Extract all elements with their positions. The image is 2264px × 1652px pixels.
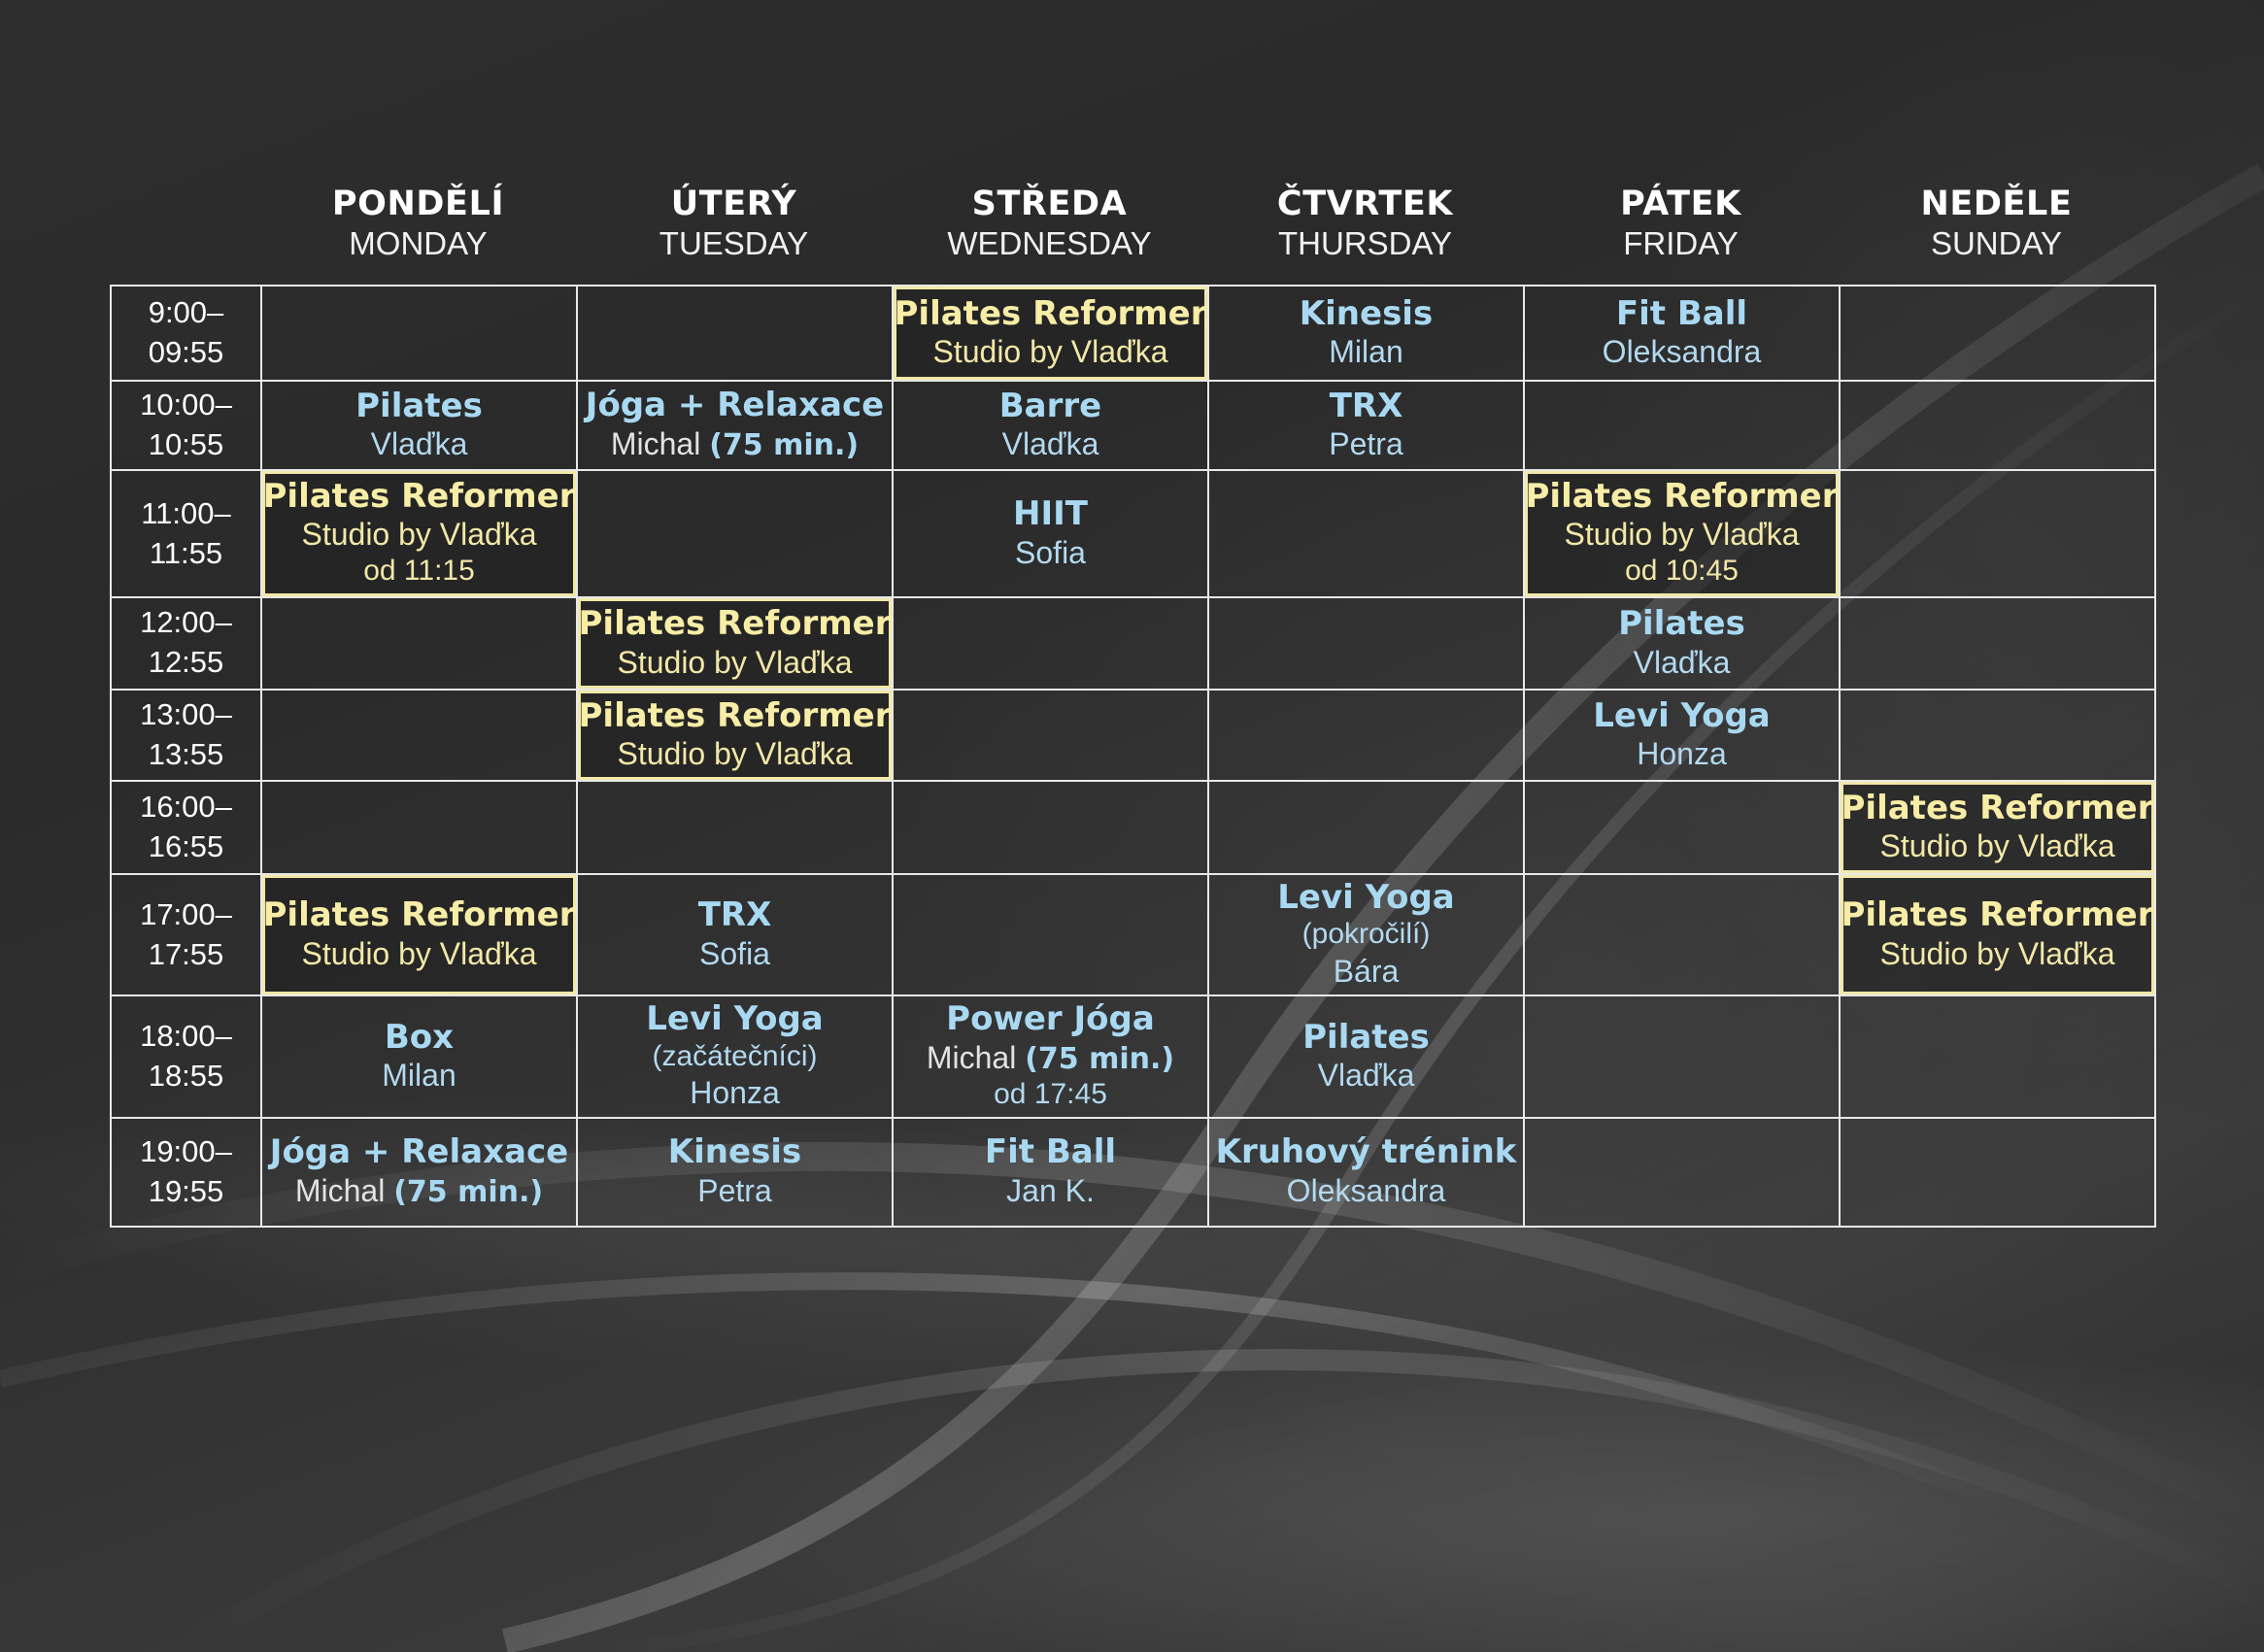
class-entry[interactable]: Levi Yoga(pokročilí)Bára: [1209, 875, 1523, 995]
instructor-name: Studio by Vlaďka: [301, 517, 536, 552]
class-instructor: Michal (75 min.): [611, 425, 859, 464]
schedule-cell-empty-sunday: [1840, 381, 2155, 470]
empty-slot: [262, 287, 576, 380]
time-label-cell: 17:00– 17:55: [111, 874, 261, 995]
schedule-cell-empty-sunday: [1840, 1118, 2155, 1227]
class-entry[interactable]: Fit BallOleksandra: [1525, 287, 1839, 380]
schedule-cell-empty-friday: [1524, 381, 1840, 470]
class-entry[interactable]: TRXSofia: [578, 875, 892, 995]
time-label-cell: 18:00– 18:55: [111, 995, 261, 1118]
empty-slot: [1841, 996, 2154, 1117]
class-title: Fit Ball: [985, 1133, 1116, 1171]
class-instructor: Oleksandra: [1287, 1172, 1446, 1210]
empty-slot: [894, 782, 1207, 873]
empty-slot: [1209, 471, 1523, 596]
time-label-cell: 11:00– 11:55: [111, 470, 261, 597]
empty-slot: [1209, 691, 1523, 780]
class-entry[interactable]: PilatesVlaďka: [1525, 598, 1839, 688]
empty-slot: [578, 287, 892, 380]
schedule-cell-empty-wednesday: [893, 781, 1208, 874]
class-title: HIIT: [1013, 495, 1088, 533]
instructor-name: Vlaďka: [1318, 1058, 1415, 1093]
class-instructor: Honza: [1637, 735, 1727, 773]
instructor-name: Michal: [927, 1040, 1025, 1075]
instructor-name: Honza: [690, 1075, 780, 1110]
day-header-friday: PÁTEK FRIDAY: [1523, 170, 1839, 285]
instructor-name: Studio by Vlaďka: [617, 736, 852, 771]
empty-slot: [1841, 691, 2154, 780]
class-instructor: Michal (75 min.): [295, 1172, 543, 1211]
schedule-cell-empty-tuesday: [577, 470, 893, 597]
day-header-en-monday: MONDAY: [260, 223, 576, 263]
instructor-name: Sofia: [699, 936, 770, 971]
class-instructor: Bára: [1334, 953, 1400, 991]
class-entry[interactable]: Pilates ReformerStudio by Vlaďka: [578, 598, 892, 688]
schedule-row: 9:00– 09:55Pilates ReformerStudio by Vla…: [111, 286, 2155, 381]
schedule-cell-wednesday[interactable]: Power JógaMichal (75 min.)od 17:45: [893, 995, 1208, 1118]
schedule-cell-empty-sunday: [1840, 470, 2155, 597]
class-instructor: Vlaďka: [371, 425, 468, 463]
instructor-name: Studio by Vlaďka: [617, 645, 852, 680]
empty-slot: [894, 691, 1207, 780]
schedule-cell-tuesday[interactable]: TRXSofia: [577, 874, 893, 995]
empty-slot: [1209, 782, 1523, 873]
schedule-cell-empty-monday: [261, 597, 577, 689]
schedule-cell-monday[interactable]: PilatesVlaďka: [261, 381, 577, 470]
day-header-thursday: ČTVRTEK THURSDAY: [1207, 170, 1523, 285]
empty-slot: [578, 782, 892, 873]
schedule-cell-empty-monday: [261, 690, 577, 781]
class-start-time-note: od 17:45: [994, 1077, 1107, 1113]
instructor-name: Oleksandra: [1287, 1173, 1446, 1208]
day-header-tuesday: ÚTERÝ TUESDAY: [576, 170, 892, 285]
class-instructor: Studio by Vlaďka: [617, 644, 852, 682]
class-instructor: Petra: [1329, 425, 1402, 463]
schedule-cell-tuesday[interactable]: Jóga + RelaxaceMichal (75 min.): [577, 381, 893, 470]
class-entry[interactable]: Jóga + RelaxaceMichal (75 min.): [578, 382, 892, 469]
instructor-name: Bára: [1334, 954, 1400, 989]
class-entry[interactable]: KinesisMilan: [1209, 287, 1523, 380]
day-header-en-thursday: THURSDAY: [1207, 223, 1523, 263]
instructor-name: Honza: [1637, 736, 1727, 771]
class-title: Pilates Reformer: [579, 697, 892, 735]
class-instructor: Milan: [1329, 333, 1402, 371]
class-title: Pilates: [355, 388, 483, 425]
class-entry[interactable]: Pilates ReformerStudio by Vlaďka: [1841, 782, 2154, 873]
class-duration-note: (75 min.): [1025, 1042, 1174, 1076]
empty-slot: [262, 598, 576, 688]
schedule-cell-friday[interactable]: PilatesVlaďka: [1524, 597, 1840, 689]
empty-slot: [1209, 598, 1523, 688]
class-entry[interactable]: BoxMilan: [262, 996, 576, 1117]
class-instructor: Studio by Vlaďka: [1564, 516, 1799, 554]
schedule-cell-empty-thursday: [1208, 690, 1524, 781]
day-header-en-wednesday: WEDNESDAY: [892, 223, 1207, 263]
class-title: Pilates Reformer: [1526, 478, 1839, 516]
class-entry[interactable]: TRXPetra: [1209, 382, 1523, 469]
class-title: Pilates: [1618, 605, 1745, 643]
instructor-name: Michal: [611, 426, 709, 461]
schedule-cell-wednesday[interactable]: BarreVlaďka: [893, 381, 1208, 470]
class-instructor: Studio by Vlaďka: [301, 516, 536, 554]
day-header-cz-wednesday: STŘEDA: [892, 185, 1207, 223]
instructor-name: Studio by Vlaďka: [1879, 828, 2114, 863]
class-title: TRX: [698, 896, 772, 934]
class-instructor: Studio by Vlaďka: [301, 935, 536, 973]
class-title: Levi Yoga: [1277, 879, 1455, 917]
schedule-cell-empty-friday: [1524, 874, 1840, 995]
schedule-cell-empty-thursday: [1208, 781, 1524, 874]
schedule-cell-friday[interactable]: Levi YogaHonza: [1524, 690, 1840, 781]
schedule-cell-friday[interactable]: Fit BallOleksandra: [1524, 286, 1840, 381]
schedule-cell-empty-wednesday: [893, 597, 1208, 689]
schedule-sheet: PONDĚLÍ MONDAY ÚTERÝ TUESDAY STŘEDA WEDN…: [0, 0, 2264, 1652]
class-entry[interactable]: KinesisPetra: [578, 1119, 892, 1226]
class-title: Pilates Reformer: [1842, 790, 2154, 827]
instructor-name: Studio by Vlaďka: [1879, 936, 2114, 971]
instructor-name: Milan: [382, 1058, 456, 1093]
class-instructor: Vlaďka: [1634, 644, 1731, 682]
schedule-cell-monday[interactable]: Jóga + RelaxaceMichal (75 min.): [261, 1118, 577, 1227]
class-title: Fit Ball: [1616, 295, 1747, 333]
class-start-time-note: od 11:15: [363, 554, 475, 590]
schedule-cell-highlight-monday[interactable]: Pilates ReformerStudio by Vlaďka: [261, 874, 577, 995]
schedule-row: 11:00– 11:55Pilates ReformerStudio by Vl…: [111, 470, 2155, 597]
empty-slot: [1525, 782, 1839, 873]
schedule-cell-empty-friday: [1524, 995, 1840, 1118]
instructor-name: Studio by Vlaďka: [932, 334, 1167, 369]
schedule-cell-empty-monday: [261, 781, 577, 874]
schedule-cell-empty-monday: [261, 286, 577, 381]
schedule-cell-highlight-monday[interactable]: Pilates ReformerStudio by Vlaďkaod 11:15: [261, 470, 577, 597]
schedule-cell-empty-thursday: [1208, 470, 1524, 597]
class-title: Barre: [999, 388, 1101, 425]
class-instructor: Michal (75 min.): [927, 1039, 1174, 1078]
class-entry[interactable]: Jóga + RelaxaceMichal (75 min.): [262, 1119, 576, 1226]
class-entry[interactable]: Pilates ReformerStudio by Vlaďkaod 10:45: [1525, 471, 1839, 596]
class-entry[interactable]: Pilates ReformerStudio by Vlaďka: [1841, 875, 2154, 995]
schedule-cell-empty-sunday: [1840, 286, 2155, 381]
class-title: Levi Yoga: [1593, 697, 1771, 735]
time-label-cell: 12:00– 12:55: [111, 597, 261, 689]
schedule-grid-body: 9:00– 09:55Pilates ReformerStudio by Vla…: [111, 286, 2155, 1227]
instructor-name: Oleksandra: [1603, 334, 1762, 369]
class-instructor: Vlaďka: [1002, 425, 1099, 463]
day-header-monday: PONDĚLÍ MONDAY: [260, 170, 576, 285]
schedule-cell-thursday[interactable]: TRXPetra: [1208, 381, 1524, 470]
class-duration-note: (75 min.): [709, 428, 859, 462]
class-instructor: Studio by Vlaďka: [1879, 935, 2114, 973]
class-instructor: Vlaďka: [1318, 1057, 1415, 1095]
instructor-name: Jan K.: [1006, 1173, 1095, 1208]
schedule-cell-highlight-tuesday[interactable]: Pilates ReformerStudio by Vlaďka: [577, 597, 893, 689]
schedule-row: 13:00– 13:55Pilates ReformerStudio by Vl…: [111, 690, 2155, 781]
empty-slot: [262, 782, 576, 873]
schedule-row: 16:00– 16:55Pilates ReformerStudio by Vl…: [111, 781, 2155, 874]
class-title: Kinesis: [1300, 295, 1433, 333]
empty-slot: [1841, 287, 2154, 380]
empty-slot: [1841, 598, 2154, 688]
class-entry[interactable]: Pilates ReformerStudio by Vlaďka: [262, 875, 576, 995]
empty-slot: [1841, 382, 2154, 469]
time-label-cell: 10:00– 10:55: [111, 381, 261, 470]
empty-slot: [578, 471, 892, 596]
class-title: Kruhový trénink: [1216, 1133, 1517, 1171]
class-title: Pilates Reformer: [1842, 896, 2154, 934]
class-entry[interactable]: Levi Yoga(začátečníci)Honza: [578, 996, 892, 1117]
schedule-cell-empty-thursday: [1208, 597, 1524, 689]
class-title: Box: [385, 1019, 454, 1057]
class-entry[interactable]: BarreVlaďka: [894, 382, 1207, 469]
class-entry[interactable]: PilatesVlaďka: [1209, 996, 1523, 1117]
schedule-cell-tuesday[interactable]: Levi Yoga(začátečníci)Honza: [577, 995, 893, 1118]
schedule-cell-thursday[interactable]: Levi Yoga(pokročilí)Bára: [1208, 874, 1524, 995]
schedule-cell-empty-wednesday: [893, 690, 1208, 781]
time-label-cell: 9:00– 09:55: [111, 286, 261, 381]
schedule-cell-tuesday[interactable]: KinesisPetra: [577, 1118, 893, 1227]
class-instructor: Oleksandra: [1603, 333, 1762, 371]
schedule-row: 10:00– 10:55PilatesVlaďkaJóga + Relaxace…: [111, 381, 2155, 470]
class-title: Pilates: [1302, 1019, 1430, 1057]
class-instructor: Sofia: [699, 935, 770, 973]
instructor-name: Vlaďka: [371, 426, 468, 461]
class-title: Pilates Reformer: [579, 605, 892, 643]
schedule-cell-empty-sunday: [1840, 995, 2155, 1118]
time-label-cell: 16:00– 16:55: [111, 781, 261, 874]
class-level-note: (začátečníci): [652, 1039, 817, 1075]
class-instructor: Jan K.: [1006, 1172, 1095, 1210]
schedule-table: 9:00– 09:55Pilates ReformerStudio by Vla…: [110, 285, 2156, 1228]
class-duration-note: (75 min.): [393, 1175, 543, 1209]
time-label-cell: 13:00– 13:55: [111, 690, 261, 781]
schedule-cell-monday[interactable]: BoxMilan: [261, 995, 577, 1118]
class-title: Jóga + Relaxace: [586, 387, 884, 424]
class-instructor: Sofia: [1015, 534, 1086, 572]
schedule-cell-empty-sunday: [1840, 597, 2155, 689]
class-title: Power Jóga: [946, 1000, 1155, 1038]
class-instructor: Honza: [690, 1074, 780, 1112]
empty-slot: [894, 875, 1207, 995]
class-entry[interactable]: Levi YogaHonza: [1525, 691, 1839, 780]
class-entry[interactable]: Kruhový tréninkOleksandra: [1209, 1119, 1523, 1226]
empty-slot: [262, 691, 576, 780]
header-corner-spacer: [110, 170, 260, 285]
class-instructor: Studio by Vlaďka: [1879, 827, 2114, 865]
schedule-row: 19:00– 19:55Jóga + RelaxaceMichal (75 mi…: [111, 1118, 2155, 1227]
instructor-name: Vlaďka: [1002, 426, 1099, 461]
class-start-time-note: od 10:45: [1625, 554, 1739, 590]
day-header-row: PONDĚLÍ MONDAY ÚTERÝ TUESDAY STŘEDA WEDN…: [110, 170, 2154, 285]
class-entry[interactable]: HIITSofia: [894, 471, 1207, 596]
schedule-cell-highlight-friday[interactable]: Pilates ReformerStudio by Vlaďkaod 10:45: [1524, 470, 1840, 597]
empty-slot: [1841, 1119, 2154, 1226]
day-header-cz-tuesday: ÚTERÝ: [576, 185, 892, 223]
instructor-name: Sofia: [1015, 535, 1086, 570]
class-title: Pilates Reformer: [263, 896, 576, 934]
schedule-cell-wednesday[interactable]: Fit BallJan K.: [893, 1118, 1208, 1227]
schedule-row: 18:00– 18:55BoxMilanLevi Yoga(začátečníc…: [111, 995, 2155, 1118]
schedule-cell-highlight-sunday[interactable]: Pilates ReformerStudio by Vlaďka: [1840, 781, 2155, 874]
instructor-name: Studio by Vlaďka: [301, 936, 536, 971]
day-header-sunday: NEDĚLE SUNDAY: [1839, 170, 2154, 285]
day-header-cz-monday: PONDĚLÍ: [260, 185, 576, 223]
class-title: Pilates Reformer: [263, 478, 576, 516]
time-label-cell: 19:00– 19:55: [111, 1118, 261, 1227]
instructor-name: Milan: [1329, 334, 1402, 369]
class-entry[interactable]: Power JógaMichal (75 min.)od 17:45: [894, 996, 1207, 1117]
day-header-en-friday: FRIDAY: [1523, 223, 1839, 263]
day-header-wednesday: STŘEDA WEDNESDAY: [892, 170, 1207, 285]
class-instructor: Studio by Vlaďka: [617, 735, 852, 773]
class-title: Pilates Reformer: [895, 295, 1207, 333]
empty-slot: [1525, 875, 1839, 995]
class-entry[interactable]: Pilates ReformerStudio by Vlaďka: [894, 287, 1207, 380]
schedule-row: 12:00– 12:55Pilates ReformerStudio by Vl…: [111, 597, 2155, 689]
class-entry[interactable]: Pilates ReformerStudio by Vlaďka: [578, 691, 892, 780]
class-instructor: Milan: [382, 1057, 456, 1095]
instructor-name: Petra: [697, 1173, 771, 1208]
empty-slot: [1525, 1119, 1839, 1226]
schedule-cell-empty-tuesday: [577, 286, 893, 381]
class-instructor: Studio by Vlaďka: [932, 333, 1167, 371]
empty-slot: [1525, 382, 1839, 469]
class-entry[interactable]: Pilates ReformerStudio by Vlaďkaod 11:15: [262, 471, 576, 596]
empty-slot: [1841, 471, 2154, 596]
class-title: Jóga + Relaxace: [270, 1133, 568, 1171]
schedule-cell-wednesday[interactable]: HIITSofia: [893, 470, 1208, 597]
schedule-cell-highlight-sunday[interactable]: Pilates ReformerStudio by Vlaďka: [1840, 874, 2155, 995]
day-header-en-sunday: SUNDAY: [1839, 223, 2154, 263]
class-entry[interactable]: PilatesVlaďka: [262, 382, 576, 469]
empty-slot: [894, 598, 1207, 688]
schedule-cell-thursday[interactable]: KinesisMilan: [1208, 286, 1524, 381]
schedule-cell-empty-wednesday: [893, 874, 1208, 995]
instructor-name: Studio by Vlaďka: [1564, 517, 1799, 552]
schedule-row: 17:00– 17:55Pilates ReformerStudio by Vl…: [111, 874, 2155, 995]
day-header-cz-sunday: NEDĚLE: [1839, 185, 2154, 223]
class-entry[interactable]: Fit BallJan K.: [894, 1119, 1207, 1226]
schedule-cell-highlight-tuesday[interactable]: Pilates ReformerStudio by Vlaďka: [577, 690, 893, 781]
class-level-note: (pokročilí): [1302, 917, 1431, 953]
instructor-name: Vlaďka: [1634, 645, 1731, 680]
schedule-cell-thursday[interactable]: Kruhový tréninkOleksandra: [1208, 1118, 1524, 1227]
class-title: Kinesis: [668, 1133, 801, 1171]
schedule-cell-empty-sunday: [1840, 690, 2155, 781]
class-title: Levi Yoga: [646, 1000, 824, 1038]
schedule-cell-empty-friday: [1524, 781, 1840, 874]
schedule-cell-empty-friday: [1524, 1118, 1840, 1227]
empty-slot: [1525, 996, 1839, 1117]
day-header-en-tuesday: TUESDAY: [576, 223, 892, 263]
instructor-name: Michal: [295, 1173, 393, 1208]
schedule-cell-empty-tuesday: [577, 781, 893, 874]
class-instructor: Petra: [697, 1172, 771, 1210]
schedule-cell-thursday[interactable]: PilatesVlaďka: [1208, 995, 1524, 1118]
schedule-cell-highlight-wednesday[interactable]: Pilates ReformerStudio by Vlaďka: [893, 286, 1208, 381]
day-header-cz-friday: PÁTEK: [1523, 185, 1839, 223]
day-header-cz-thursday: ČTVRTEK: [1207, 185, 1523, 223]
class-title: TRX: [1330, 388, 1403, 425]
instructor-name: Petra: [1329, 426, 1402, 461]
